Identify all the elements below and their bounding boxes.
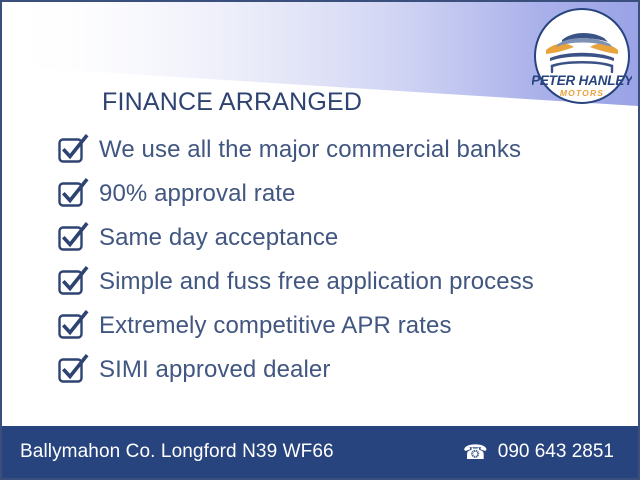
list-item: Simple and fuss free application process — [56, 260, 616, 304]
checkbox-checked-icon — [56, 264, 90, 298]
dealership-logo: PETER HANLEY MOTORS — [532, 6, 632, 106]
telephone-icon: ☎ — [463, 443, 488, 463]
list-item-label: Simple and fuss free application process — [99, 268, 534, 296]
list-item: We use all the major commercial banks — [56, 128, 616, 172]
footer-address: Ballymahon Co. Longford N39 WF66 — [20, 441, 334, 463]
checkbox-checked-icon — [56, 220, 90, 254]
footer-bar: Ballymahon Co. Longford N39 WF66 ☎ 090 6… — [2, 426, 638, 478]
checkbox-checked-icon — [56, 176, 90, 210]
checkbox-checked-icon — [56, 352, 90, 386]
footer-phone-group[interactable]: ☎ 090 643 2851 — [463, 441, 620, 463]
checkbox-checked-icon — [56, 308, 90, 342]
list-item-label: Extremely competitive APR rates — [99, 312, 452, 340]
list-item: SIMI approved dealer — [56, 348, 616, 392]
list-item: Extremely competitive APR rates — [56, 304, 616, 348]
logo-wordmark-secondary: MOTORS — [560, 88, 604, 98]
promo-slide: PETER HANLEY MOTORS FINANCE ARRANGED We … — [0, 0, 640, 480]
footer-phone-number[interactable]: 090 643 2851 — [498, 441, 614, 463]
list-item-label: 90% approval rate — [99, 180, 296, 208]
list-item-label: We use all the major commercial banks — [99, 136, 521, 164]
page-title: FINANCE ARRANGED — [102, 88, 362, 117]
list-item: Same day acceptance — [56, 216, 616, 260]
list-item-label: SIMI approved dealer — [99, 356, 330, 384]
logo-wordmark-primary: PETER HANLEY — [532, 73, 632, 88]
list-item-label: Same day acceptance — [99, 224, 338, 252]
checkbox-checked-icon — [56, 132, 90, 166]
feature-list: We use all the major commercial banks 90… — [56, 128, 616, 392]
list-item: 90% approval rate — [56, 172, 616, 216]
